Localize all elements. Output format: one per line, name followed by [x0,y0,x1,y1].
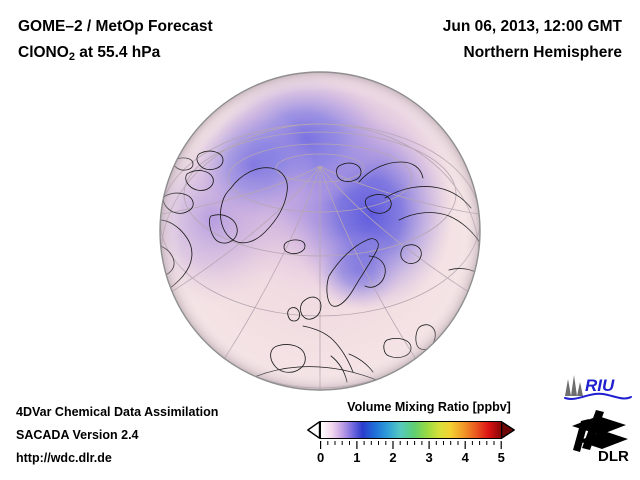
colorbar: Volume Mixing Ratio [ppbv] [306,400,546,462]
version-label: SACADA Version 2.4 [16,424,218,447]
region-label: Northern Hemisphere [443,40,622,66]
species-name: ClONO [18,44,69,61]
dlr-logo: DLR [568,408,630,464]
colorbar-tick-labels: 0 1 2 3 4 5 [306,450,546,468]
colorbar-under-arrow-icon [307,421,320,439]
figure-title-right: Jun 06, 2013, 12:00 GMT Northern Hemisph… [443,14,622,66]
instrument-title: GOME–2 / MetOp Forecast [18,14,213,40]
riu-wordmark: RIU [585,376,615,395]
colorbar-axis-ticks [320,441,502,450]
globe-svg [153,70,487,392]
colorbar-tick-1: 1 [353,450,360,465]
data-center-url[interactable]: http://wdc.dlr.de [16,447,218,470]
dlr-mark-icon [572,410,628,452]
colorbar-over-arrow-icon [501,421,515,439]
method-label: 4DVar Chemical Data Assimilation [16,401,218,424]
colorbar-title: Volume Mixing Ratio [ppbv] [312,400,546,414]
colorbar-tick-3: 3 [425,450,432,465]
timestamp-label: Jun 06, 2013, 12:00 GMT [443,14,622,40]
species-title: ClONO2 at 55.4 hPa [18,40,213,70]
globe-limb-shading [160,72,480,390]
colorbar-tick-5: 5 [498,450,505,465]
dlr-wordmark: DLR [598,448,629,464]
colorbar-tick-0: 0 [317,450,324,465]
colorbar-gradient [320,421,502,439]
colorbar-tick-4: 4 [462,450,469,465]
figure-title-left: GOME–2 / MetOp Forecast ClONO2 at 55.4 h… [18,14,213,70]
footer-text: 4DVar Chemical Data Assimilation SACADA … [16,401,218,470]
colorbar-row [306,420,546,440]
figure-canvas: GOME–2 / MetOp Forecast ClONO2 at 55.4 h… [0,0,640,480]
riu-logo: RIU [563,374,633,404]
globe-map [153,70,487,392]
colorbar-tick-2: 2 [389,450,396,465]
riu-spikes-icon [565,375,583,396]
species-level: at 55.4 hPa [75,44,160,61]
